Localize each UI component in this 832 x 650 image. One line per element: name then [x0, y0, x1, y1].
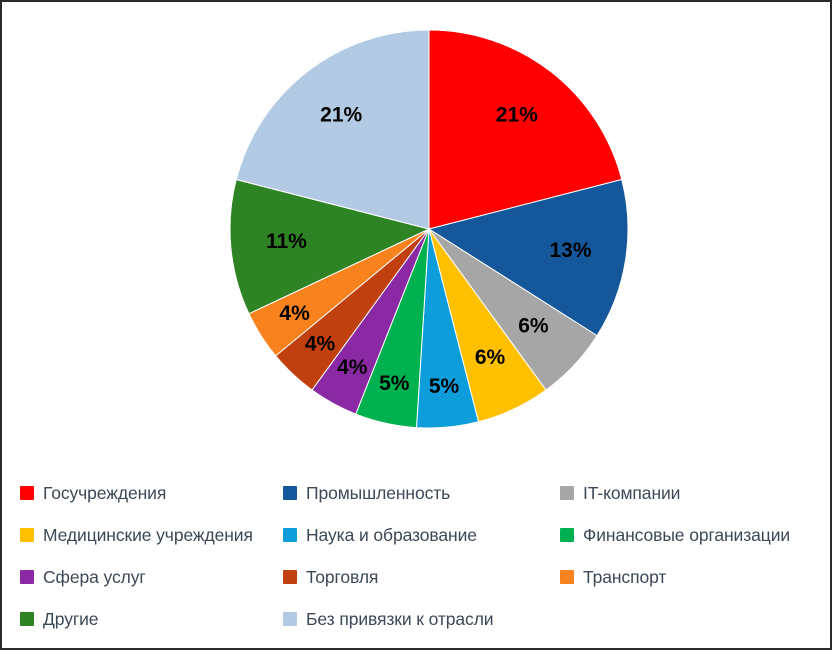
legend-item[interactable]: Транспорт: [560, 556, 820, 598]
legend-item[interactable]: IT-компании: [560, 472, 820, 514]
legend-item-label: Сфера услуг: [43, 567, 146, 588]
pie-chart-plot-area: 21%13%6%6%5%5%4%4%4%11%21%: [2, 2, 830, 454]
legend-item[interactable]: Медицинские учреждения: [20, 514, 283, 556]
legend-item-label: Медицинские учреждения: [43, 525, 253, 546]
legend-item[interactable]: Госучреждения: [20, 472, 283, 514]
legend-item-label: IT-компании: [583, 483, 680, 504]
legend-item[interactable]: Без привязки к отрасли: [283, 598, 560, 640]
pie-data-label: 13%: [549, 239, 591, 262]
legend-swatch-icon: [20, 612, 34, 626]
pie-data-label: 5%: [429, 375, 460, 398]
legend-swatch-icon: [283, 570, 297, 584]
legend-item[interactable]: Промышленность: [283, 472, 560, 514]
legend-swatch-icon: [283, 486, 297, 500]
legend-swatch-icon: [20, 486, 34, 500]
legend-item-label: Наука и образование: [306, 525, 477, 546]
legend-item-label: Торговля: [306, 567, 378, 588]
legend-item-label: Транспорт: [583, 567, 666, 588]
pie-chart-svg: 21%13%6%6%5%5%4%4%4%11%21%: [2, 2, 830, 454]
legend-item-label: Другие: [43, 609, 98, 630]
chart-frame: 21%13%6%6%5%5%4%4%4%11%21% Госучреждения…: [0, 0, 832, 650]
legend-item-label: Финансовые организации: [583, 525, 790, 546]
pie-slice-group: [230, 30, 628, 428]
pie-data-label: 4%: [337, 356, 368, 379]
chart-legend: ГосучрежденияПромышленностьIT-компанииМе…: [20, 472, 820, 640]
pie-data-label: 11%: [266, 230, 307, 253]
pie-data-label: 4%: [279, 302, 310, 325]
legend-item[interactable]: Наука и образование: [283, 514, 560, 556]
pie-data-label: 6%: [475, 346, 506, 369]
legend-swatch-icon: [20, 570, 34, 584]
legend-item-label: Без привязки к отрасли: [306, 609, 493, 630]
legend-item-label: Госучреждения: [43, 483, 166, 504]
legend-swatch-icon: [560, 528, 574, 542]
legend-swatch-icon: [20, 528, 34, 542]
legend-swatch-icon: [283, 528, 297, 542]
legend-item[interactable]: Финансовые организации: [560, 514, 820, 556]
legend-swatch-icon: [283, 612, 297, 626]
legend-item[interactable]: Торговля: [283, 556, 560, 598]
legend-item-label: Промышленность: [306, 483, 450, 504]
legend-swatch-icon: [560, 486, 574, 500]
pie-data-label: 21%: [496, 103, 538, 126]
legend-item[interactable]: Сфера услуг: [20, 556, 283, 598]
legend-item[interactable]: Другие: [20, 598, 283, 640]
pie-data-label: 4%: [305, 333, 336, 356]
legend-swatch-icon: [560, 570, 574, 584]
pie-data-label: 21%: [320, 103, 362, 126]
pie-data-label: 5%: [379, 372, 410, 395]
pie-data-label: 6%: [518, 315, 549, 338]
